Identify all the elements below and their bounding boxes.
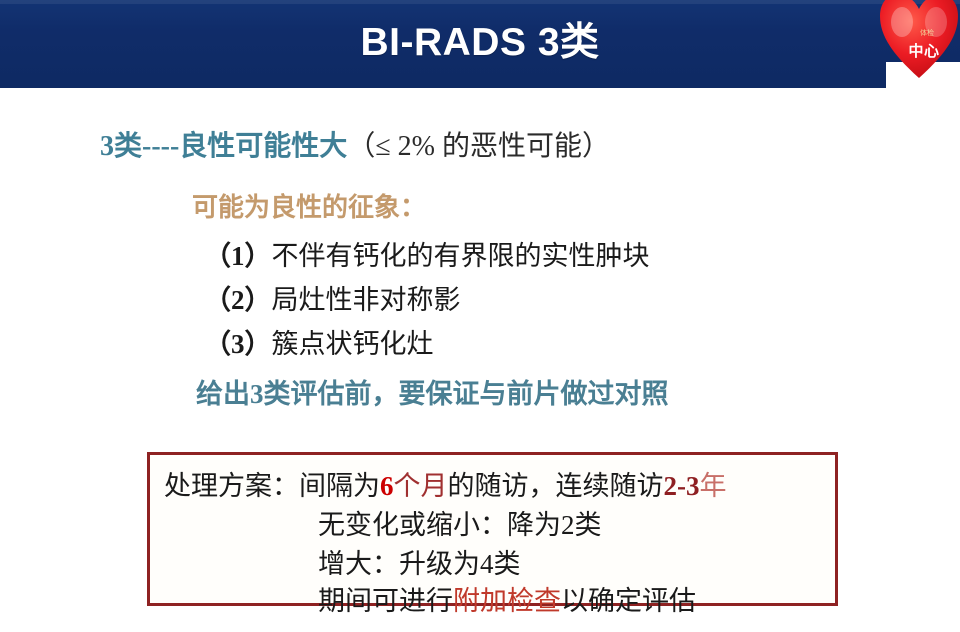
- classification-heading: 3类----良性可能性大（≤ 2% 的恶性可能）: [100, 132, 610, 163]
- list-item-number: （1）: [204, 241, 272, 271]
- interval-unit: 个月: [394, 471, 448, 501]
- findings-list: （1）不伴有钙化的有界限的实性肿块 （2）局灶性非对称影 （3）簇点状钙化灶: [204, 234, 650, 366]
- page-title: BI-RADS 3类: [360, 23, 599, 62]
- management-line-4: 期间可进行附加检查以确定评估: [318, 588, 696, 615]
- management-line-3: 增大：升级为4类: [318, 551, 521, 578]
- findings-subheading: 可能为良性的征象：: [192, 194, 426, 223]
- list-item-number: （2）: [204, 285, 272, 315]
- list-item: （2）局灶性非对称影: [204, 278, 650, 322]
- additional-exam-suffix: 以确定评估: [561, 586, 696, 616]
- management-line-2: 无变化或缩小：降为2类: [318, 512, 602, 539]
- interval-number: 6: [380, 471, 394, 501]
- management-plan-box: 处理方案：间隔为6个月的随访，连续随访2-3年 无变化或缩小：降为2类 增大：升…: [147, 452, 838, 606]
- list-item-number: （3）: [204, 329, 272, 359]
- list-item: （3）簇点状钙化灶: [204, 322, 650, 366]
- title-bar: BI-RADS 3类: [0, 0, 960, 88]
- management-middle: 的随访，连续随访: [448, 471, 664, 501]
- additional-exam-highlight: 附加检查: [453, 586, 561, 616]
- list-item-text: 不伴有钙化的有界限的实性肿块: [272, 241, 650, 271]
- additional-exam-prefix: 期间可进行: [318, 586, 453, 616]
- duration-number: 2-3: [664, 471, 700, 501]
- management-label: 处理方案：间隔为: [164, 471, 380, 501]
- duration-unit: 年: [700, 471, 727, 501]
- classification-heading-dark: （≤ 2% 的恶性可能）: [347, 131, 610, 162]
- management-line-1: 处理方案：间隔为6个月的随访，连续随访2-3年: [164, 473, 727, 500]
- list-item: （1）不伴有钙化的有界限的实性肿块: [204, 234, 650, 278]
- classification-heading-teal: 3类----良性可能性大: [100, 131, 347, 162]
- list-item-text: 簇点状钙化灶: [272, 329, 434, 359]
- comparison-note: 给出3类评估前，要保证与前片做过对照: [196, 380, 669, 410]
- slide-root: BI-RADS 3类 体检 中心 3类----良性: [0, 0, 960, 632]
- slide-content: 3类----良性可能性大（≤ 2% 的恶性可能） 可能为良性的征象： （1）不伴…: [0, 88, 960, 632]
- list-item-text: 局灶性非对称影: [272, 285, 461, 315]
